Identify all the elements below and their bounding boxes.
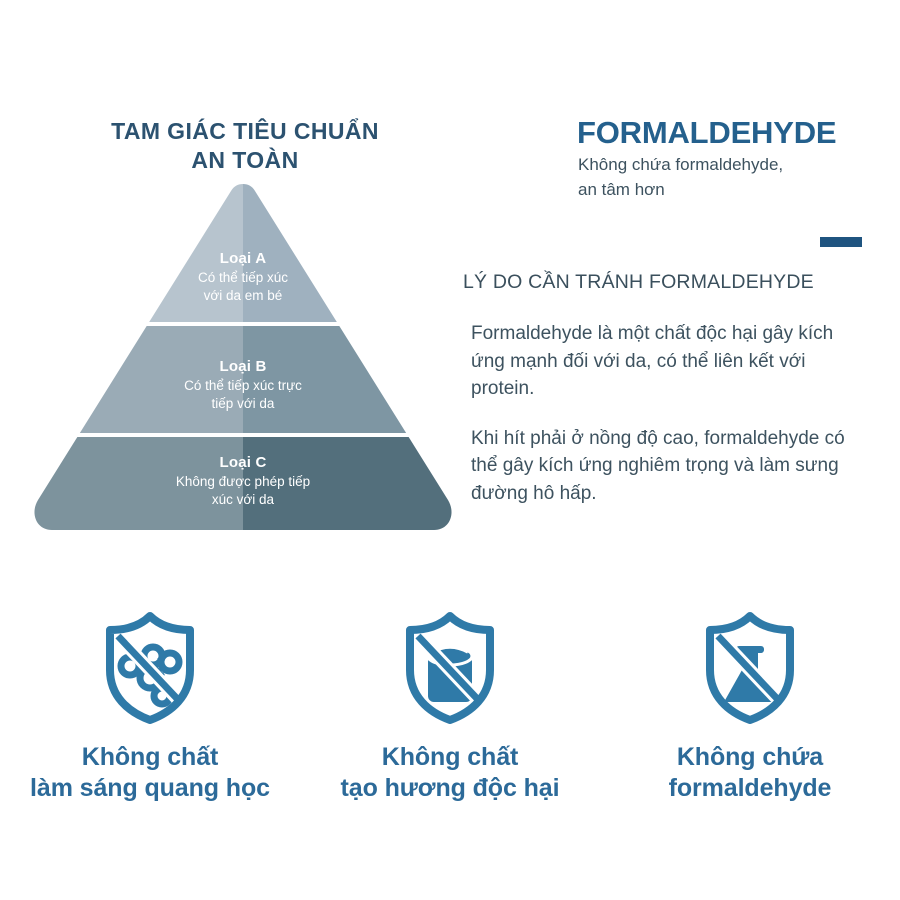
tier-a-left-half — [28, 182, 243, 322]
horizontal-dash-icon — [820, 237, 862, 247]
safety-standard-pyramid: Loại A Có thể tiếp xúc với da em bé Loại… — [28, 182, 458, 540]
reason-paragraph-1: Formaldehyde là một chất độc hại gây kíc… — [471, 320, 871, 403]
feature-item: Không chất tạo hương độc hại — [300, 612, 600, 803]
infographic-canvas: TAM GIÁC TIÊU CHUẨN AN TOÀN — [0, 0, 900, 900]
feature-label: Không chất tạo hương độc hại — [341, 742, 560, 803]
feature-label: Không chất làm sáng quang học — [30, 742, 270, 803]
reason-heading: LÝ DO CẦN TRÁNH FORMALDEHYDE — [463, 271, 814, 294]
feature-item: Không chất làm sáng quang học — [0, 612, 300, 803]
pyramid-graphic — [28, 182, 458, 540]
tier-b-right-half — [243, 326, 458, 433]
reason-paragraph-2: Khi hít phải ở nồng độ cao, formaldehyde… — [471, 425, 871, 508]
pyramid-title: TAM GIÁC TIÊU CHUẨN AN TOÀN — [60, 117, 430, 176]
shield-fragrance-bottle-slash-icon — [398, 612, 502, 724]
tier-c-right-half — [243, 437, 458, 540]
brand-subtitle: Không chứa formaldehyde, an tâm hơn — [578, 153, 888, 203]
feature-row: Không chất làm sáng quang học — [0, 612, 900, 803]
pyramid-title-line2: AN TOÀN — [60, 146, 430, 175]
tier-divider-bc — [28, 433, 458, 437]
feature-label: Không chứa formaldehyde — [669, 742, 832, 803]
tier-b-left-half — [28, 326, 243, 433]
brand-subtitle-line2: an tâm hơn — [578, 178, 888, 203]
shield-molecule-slash-icon — [98, 612, 202, 724]
brand-title: FORMALDEHYDE — [577, 115, 836, 151]
shield-flask-slash-icon — [698, 612, 802, 724]
tier-a-right-half — [243, 182, 458, 322]
reason-body: Formaldehyde là một chất độc hại gây kíc… — [471, 320, 871, 507]
feature-item: Không chứa formaldehyde — [600, 612, 900, 803]
tier-c-left-half — [28, 437, 243, 540]
tier-divider-ab — [28, 322, 458, 326]
brand-subtitle-line1: Không chứa formaldehyde, — [578, 153, 888, 178]
pyramid-title-line1: TAM GIÁC TIÊU CHUẨN — [60, 117, 430, 146]
